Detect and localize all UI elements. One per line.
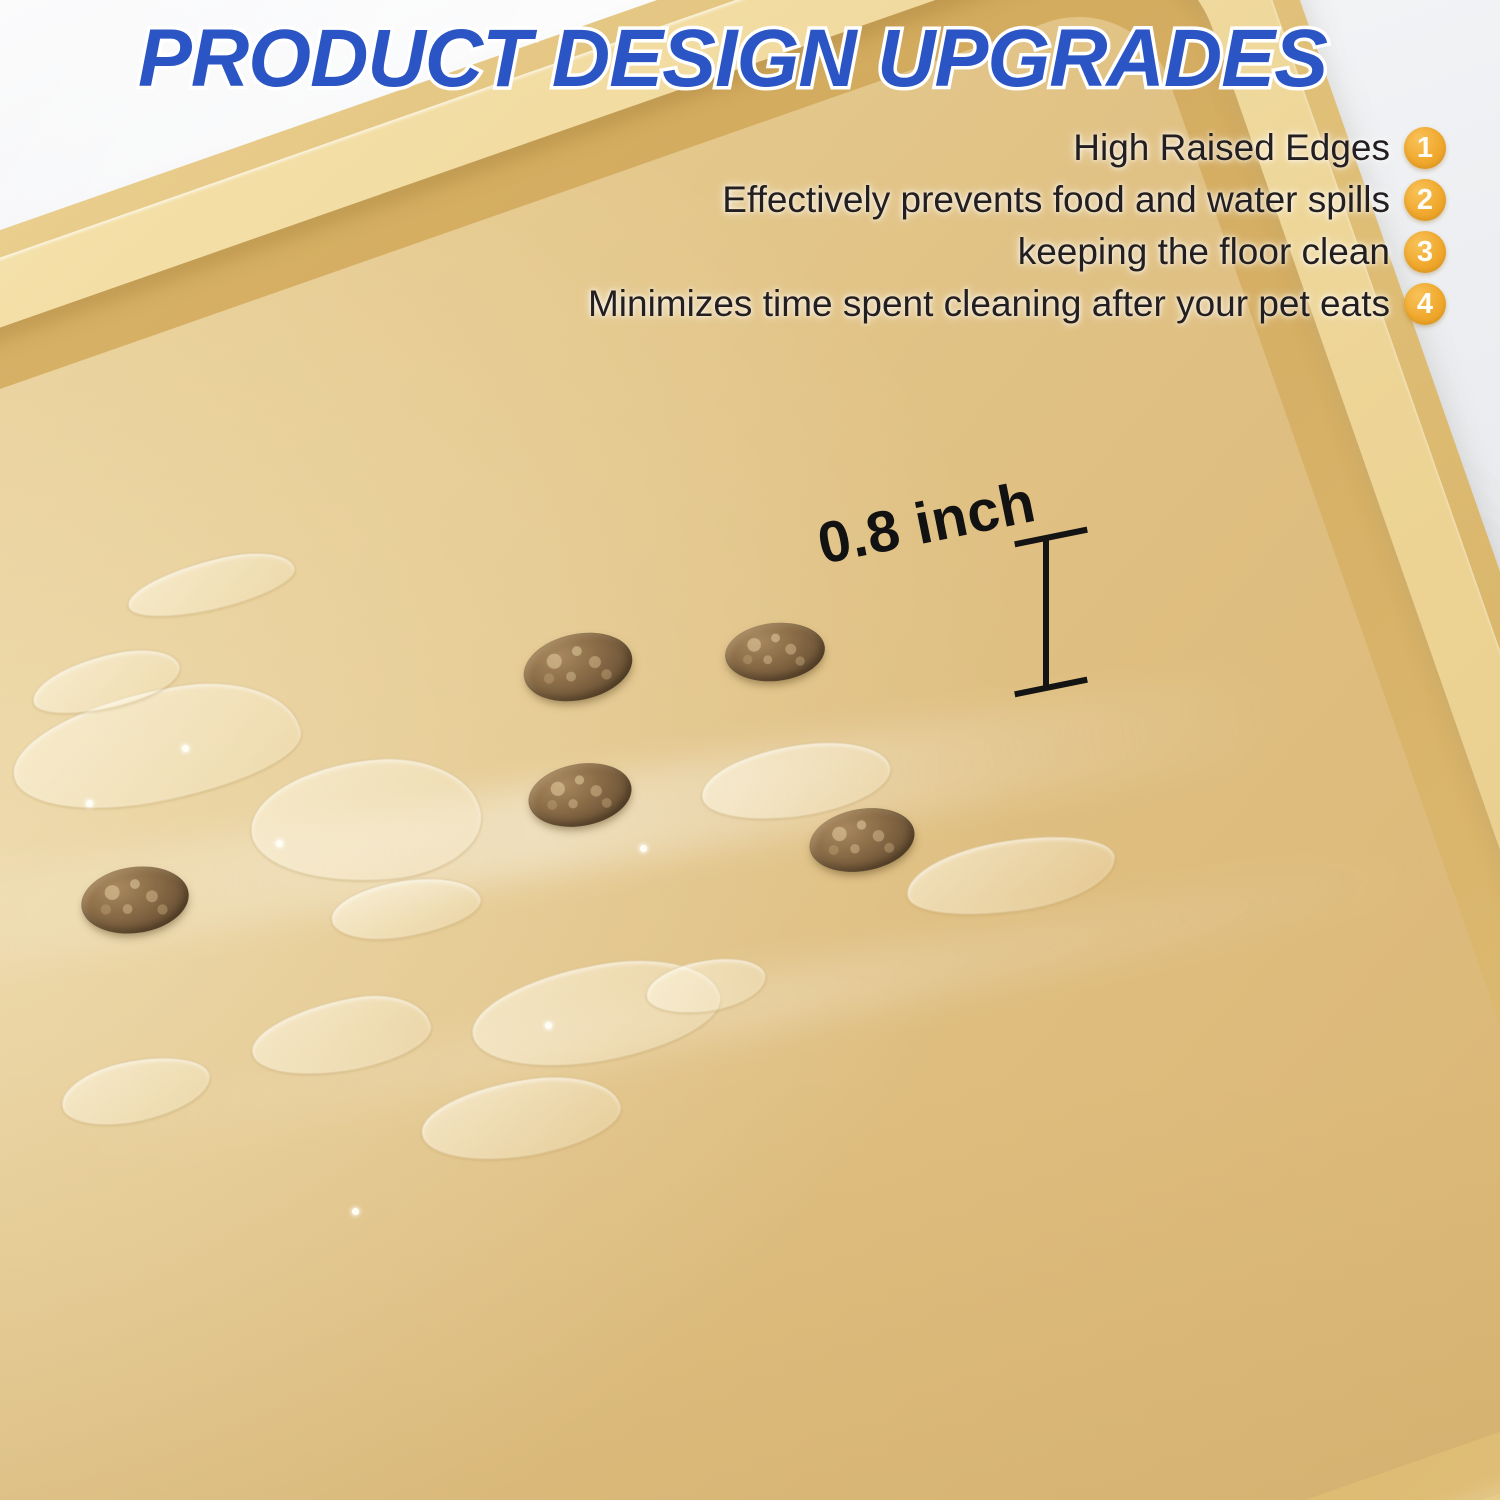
dimension-cap-bottom bbox=[1014, 677, 1088, 698]
dimension-cap-top bbox=[1014, 527, 1088, 548]
water-puddle bbox=[415, 1065, 627, 1173]
feature-text: High Raised Edges bbox=[1073, 126, 1390, 170]
product-marketing-image: 0.8 inch PRODUCT DESIGN UPGRADES High Ra… bbox=[0, 0, 1500, 1500]
kibble-piece bbox=[722, 618, 828, 686]
feature-item-2: Effectively prevents food and water spil… bbox=[722, 178, 1446, 222]
water-puddle bbox=[244, 748, 487, 894]
water-sparkle bbox=[86, 800, 93, 807]
kibble-piece bbox=[77, 860, 193, 940]
kibble-piece bbox=[523, 755, 636, 834]
water-sparkle bbox=[276, 840, 283, 847]
feature-text: Minimizes time spent cleaning after your… bbox=[588, 282, 1390, 326]
water-puddle bbox=[901, 824, 1122, 928]
water-sparkle bbox=[182, 745, 189, 752]
feature-item-4: Minimizes time spent cleaning after your… bbox=[588, 282, 1446, 326]
water-sparkle bbox=[640, 845, 647, 852]
feature-text: keeping the floor clean bbox=[1018, 230, 1390, 274]
page-title: PRODUCT DESIGN UPGRADES bbox=[138, 16, 1468, 102]
feature-number-badge: 2 bbox=[1404, 179, 1446, 221]
water-sparkle bbox=[352, 1208, 359, 1215]
water-puddle bbox=[122, 541, 301, 628]
feature-number-badge: 4 bbox=[1404, 283, 1446, 325]
feature-text: Effectively prevents food and water spil… bbox=[722, 178, 1390, 222]
feature-number-badge: 3 bbox=[1404, 231, 1446, 273]
feature-number-badge: 1 bbox=[1404, 127, 1446, 169]
dimension-ibeam bbox=[1012, 528, 1092, 696]
dimension-vertical-line bbox=[1043, 536, 1049, 688]
kibble-piece bbox=[517, 623, 638, 710]
water-sparkle bbox=[545, 1022, 552, 1029]
water-puddle bbox=[56, 1047, 216, 1134]
feature-list: High Raised Edges1Effectively prevents f… bbox=[526, 126, 1446, 326]
water-puddle bbox=[245, 983, 437, 1088]
feature-item-3: keeping the floor clean3 bbox=[1018, 230, 1446, 274]
feature-item-1: High Raised Edges1 bbox=[1073, 126, 1446, 170]
